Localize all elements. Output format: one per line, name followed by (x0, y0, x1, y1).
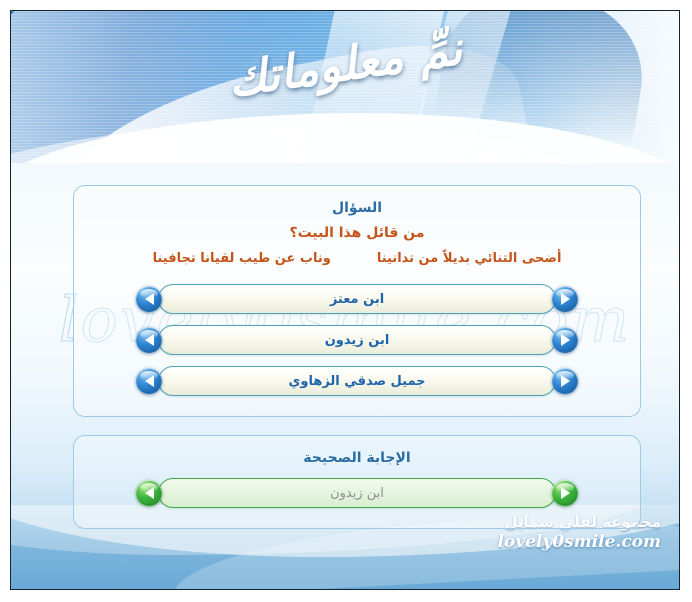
correct-answer-heading: الإجابة الصحيحة (74, 450, 640, 466)
triangle-right-glyph (145, 375, 154, 387)
verse-line: أضحى التنائي بديلاً من تدانينا وناب عن ط… (74, 251, 640, 266)
correct-answer-row-wrap: ابن زيدون (74, 478, 640, 508)
triangle-right-glyph (145, 487, 154, 499)
option-pill-2[interactable]: ابن زيدون (158, 325, 556, 355)
option-row-1[interactable]: ابن معتز (136, 284, 578, 314)
play-left-icon-2[interactable] (552, 327, 578, 353)
triangle-right-glyph (145, 293, 154, 305)
triangle-left-glyph (561, 487, 570, 499)
correct-answer-pill[interactable]: ابن زيدون (158, 478, 556, 508)
triangle-left-glyph (561, 375, 570, 387)
option-pill-3[interactable]: جميل صدقي الزهاوي (158, 366, 556, 396)
option-row-2[interactable]: ابن زيدون (136, 325, 578, 355)
question-panel: السؤال من قائل هذا البيت؟ أضحى التنائي ب… (73, 185, 641, 417)
option-row-3[interactable]: جميل صدقي الزهاوي (136, 366, 578, 396)
verse-second-hemistich: وناب عن طيب لقيانا تجافينا (153, 251, 331, 266)
option-label-1: ابن معتز (330, 292, 384, 307)
option-pill-1[interactable]: ابن معتز (158, 284, 556, 314)
question-panel-heading: السؤال (74, 200, 640, 216)
play-right-icon-3[interactable] (136, 368, 162, 394)
correct-answer-label: ابن زيدون (330, 486, 384, 501)
play-left-icon-1[interactable] (552, 286, 578, 312)
play-right-icon-answer[interactable] (136, 480, 162, 506)
option-label-3: جميل صدقي الزهاوي (288, 374, 425, 389)
play-right-icon-1[interactable] (136, 286, 162, 312)
play-right-icon-2[interactable] (136, 327, 162, 353)
correct-answer-panel: الإجابة الصحيحة ابن زيدون (73, 435, 641, 529)
header-banner: نمِّ معلوماتك (11, 11, 679, 163)
triangle-left-glyph (561, 334, 570, 346)
option-label-2: ابن زيدون (325, 333, 390, 348)
answer-options-list: ابن معتز ابن زيدون (74, 284, 640, 396)
verse-first-hemistich: أضحى التنائي بديلاً من تدانينا (377, 251, 562, 266)
triangle-left-glyph (561, 293, 570, 305)
play-left-icon-3[interactable] (552, 368, 578, 394)
slide-frame: نمِّ معلوماتك lovely0smile.com السؤال من… (10, 10, 680, 590)
question-text: من قائل هذا البيت؟ (74, 225, 640, 241)
triangle-right-glyph (145, 334, 154, 346)
brand-website-url: lovely0smile.com (497, 532, 661, 553)
correct-answer-row[interactable]: ابن زيدون (136, 478, 578, 508)
play-left-icon-answer[interactable] (552, 480, 578, 506)
quiz-slide: نمِّ معلوماتك lovely0smile.com السؤال من… (0, 0, 692, 602)
